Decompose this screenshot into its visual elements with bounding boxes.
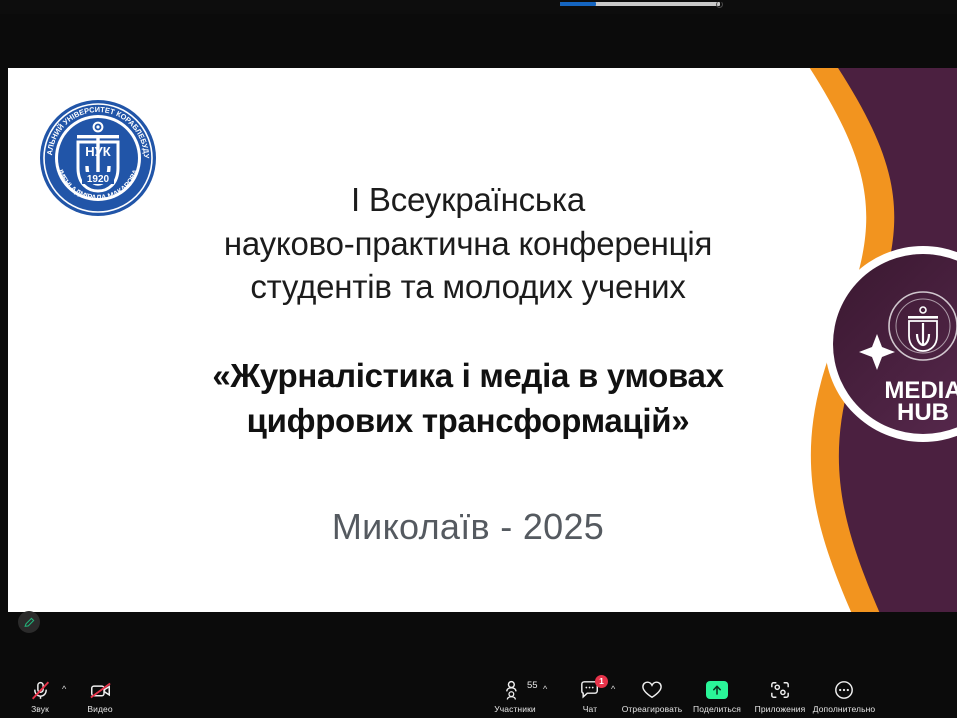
chat-bubble-icon: 1 bbox=[579, 679, 601, 701]
toolbar-item-apps[interactable]: Приложения bbox=[748, 679, 812, 714]
chat-unread-badge: 1 bbox=[595, 675, 608, 688]
participants-icon: 55 bbox=[504, 679, 526, 701]
slide-text-block: I Всеукраїнська науково-практична конфер… bbox=[128, 178, 808, 548]
loading-spinner-icon bbox=[716, 1, 723, 8]
shared-screen-slide[interactable]: MEDIA HUB НАЦІОНАЛЬНИЙ УНІВЕРСИТЕТ bbox=[8, 68, 957, 612]
share-screen-icon bbox=[706, 679, 728, 701]
camera-muted-icon bbox=[89, 679, 112, 701]
toolbar-label-chat: Чат bbox=[583, 704, 597, 714]
slide-heading-line-2: науково-практична конференція bbox=[128, 222, 808, 266]
conference-title: «Журналістика і медіа в умовах цифрових … bbox=[128, 353, 808, 444]
seal-abbreviation-text: НУК bbox=[85, 144, 110, 159]
chat-options-chevron-icon[interactable]: ^ bbox=[611, 685, 615, 694]
toolbar-item-share[interactable]: Поделиться bbox=[685, 679, 749, 714]
toolbar-label-audio: Звук bbox=[31, 704, 49, 714]
toolbar-label-share: Поделиться bbox=[693, 704, 741, 714]
top-loading-strip bbox=[0, 0, 957, 14]
slide-city-year: Миколаїв - 2025 bbox=[128, 506, 808, 548]
seal-year-text: 1920 bbox=[87, 174, 110, 185]
microphone-muted-icon bbox=[30, 679, 51, 701]
toolbar-label-video: Видео bbox=[87, 704, 112, 714]
participants-count: 55 bbox=[527, 680, 538, 691]
toolbar-item-participants[interactable]: 55 Участники bbox=[483, 679, 547, 714]
toolbar-label-more: Дополнительно bbox=[813, 704, 875, 714]
toolbar-item-more[interactable]: Дополнительно bbox=[812, 679, 876, 714]
annotate-button[interactable] bbox=[18, 611, 40, 633]
meeting-window: MEDIA HUB НАЦІОНАЛЬНИЙ УНІВЕРСИТЕТ bbox=[0, 0, 957, 718]
loading-bar-fill bbox=[560, 2, 596, 6]
audio-options-chevron-icon[interactable]: ^ bbox=[62, 685, 66, 694]
conference-title-line-1: «Журналістика і медіа в умовах bbox=[128, 353, 808, 399]
toolbar-label-react: Отреагировать bbox=[622, 704, 683, 714]
toolbar-label-participants: Участники bbox=[494, 704, 536, 714]
media-hub-line2-text: HUB bbox=[897, 399, 949, 426]
apps-icon bbox=[769, 679, 791, 701]
toolbar-item-react[interactable]: Отреагировать bbox=[620, 679, 684, 714]
conference-title-line-2: цифрових трансформацій» bbox=[128, 398, 808, 444]
pencil-icon bbox=[23, 616, 36, 629]
participants-options-chevron-icon[interactable]: ^ bbox=[543, 685, 547, 694]
meeting-toolbar: Звук ^ Видео 55 bbox=[0, 662, 957, 718]
slide-heading-line-1: I Всеукраїнська bbox=[128, 178, 808, 222]
toolbar-label-apps: Приложения bbox=[755, 704, 806, 714]
slide-heading-line-3: студентів та молодих учених bbox=[128, 265, 808, 309]
more-dots-icon bbox=[833, 679, 855, 701]
toolbar-item-video[interactable]: Видео bbox=[68, 679, 132, 714]
heart-icon bbox=[641, 679, 663, 701]
